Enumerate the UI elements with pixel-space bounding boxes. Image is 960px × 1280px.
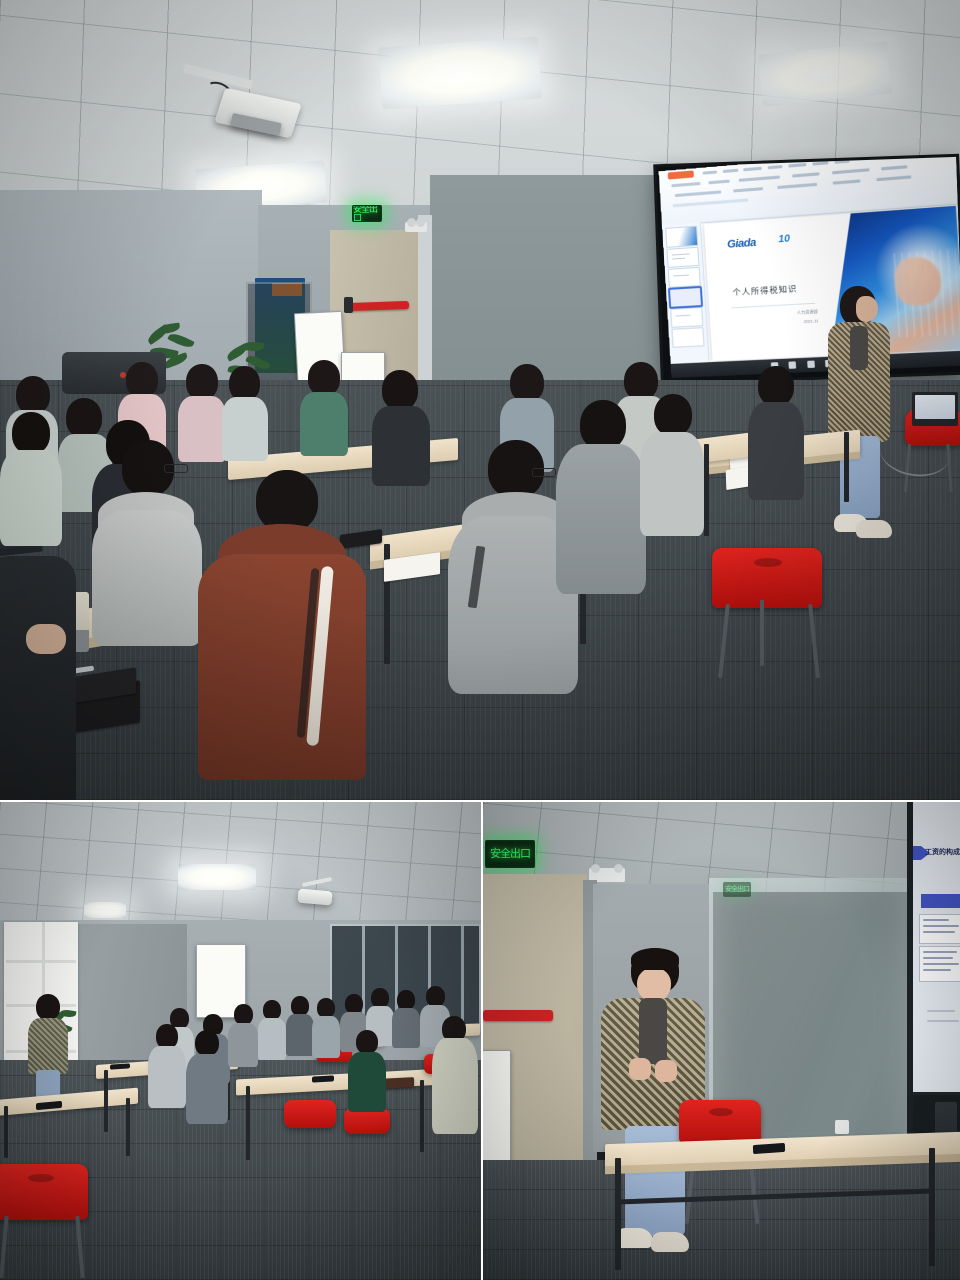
ppt-tool-row-c1[interactable]: [672, 199, 748, 208]
bookshelf-divider: [6, 960, 76, 963]
slide-body-line: [923, 963, 959, 965]
table-leg: [615, 1158, 621, 1270]
attendee-row2-c: [312, 998, 340, 1056]
attendee-head: [580, 400, 626, 450]
floor-carpet: [483, 1160, 960, 1280]
ppt-tab-tick-7[interactable]: [834, 160, 850, 164]
taskbar-icon-3[interactable]: [807, 361, 815, 369]
trainer-hand-right: [655, 1060, 677, 1082]
slide-body-line: [923, 969, 951, 971]
slide-body-line: [923, 951, 957, 953]
slide-thumbnail-4[interactable]: [668, 287, 701, 308]
exit-sign-label: 安全出口: [490, 849, 530, 860]
attendee-head: [371, 988, 389, 1008]
attendee-hand: [26, 624, 66, 654]
projector: [297, 889, 332, 906]
attendee-head: [263, 1000, 281, 1020]
trainer-shoe-right: [856, 520, 892, 538]
projection-screen-secondary: 工资的构成: [913, 802, 960, 1092]
slide-thumbnail-1[interactable]: [665, 226, 698, 248]
ppt-tab-tick-5[interactable]: [788, 163, 806, 168]
laptop-screen: [915, 395, 955, 419]
attendee-head: [229, 366, 260, 401]
ceiling-light-2: [84, 902, 126, 918]
slide-content-box-2: [919, 946, 960, 982]
trainer-hair-fringe: [631, 948, 679, 970]
attendee-head: [256, 470, 318, 532]
attendee-head: [510, 364, 544, 402]
table-leg: [929, 1148, 935, 1266]
trainer: [28, 994, 68, 1102]
collage-seam-vertical: [481, 800, 483, 1280]
ppt-tool-row-a1[interactable]: [671, 182, 700, 187]
attendee-head: [308, 360, 340, 396]
attendee-body: [372, 406, 430, 486]
attendee-mid-4-brown-hoodie: [196, 470, 366, 780]
attendee-mid-7: [640, 394, 704, 534]
trainer-shoe-right: [651, 1232, 689, 1252]
trainer-face: [856, 296, 878, 322]
attendee-body: [0, 556, 76, 800]
ceiling-light-1: [378, 36, 542, 109]
ppt-tab-tick-4[interactable]: [767, 165, 782, 169]
attendee-mid-3-gray-hoodie: [92, 440, 202, 640]
door-push-bar[interactable]: [483, 1010, 553, 1021]
ppt-slide-thumbnail-panel[interactable]: [661, 222, 709, 365]
exit-sign-reflection-label: 安全出口: [725, 886, 749, 893]
attendee-head: [654, 394, 692, 436]
attendee-glasses: [532, 468, 556, 477]
trainer-inner-top: [850, 326, 868, 370]
slide-divider: [731, 303, 815, 309]
collage-seam-horizontal: [0, 800, 960, 802]
chair-row-2[interactable]: [284, 1100, 336, 1128]
giada-logo: Giada: [726, 237, 755, 251]
attendee-row2-a: [258, 1000, 286, 1058]
attendee-right-standing: [748, 366, 804, 496]
trainer-hand-left: [629, 1058, 651, 1080]
attendee-head: [234, 1004, 253, 1025]
attendee-body: [392, 1008, 420, 1048]
slide-thumbnail-3[interactable]: [667, 267, 700, 288]
ppt-tab-tick-6[interactable]: [812, 162, 827, 166]
wall-socket: [835, 1120, 849, 1134]
plant-leaf: [167, 331, 194, 350]
chair-handle-hole: [709, 1108, 733, 1116]
attendee-body: [300, 392, 348, 456]
exit-sign: 安全出口: [485, 840, 535, 868]
empty-chair-right[interactable]: [712, 548, 822, 608]
attendee-back-7: [372, 370, 430, 480]
exit-sign-label: 安全出口: [353, 205, 381, 222]
attendee-body: [0, 450, 62, 546]
attendee-front-seated-left: [148, 1024, 186, 1106]
table-leg: [704, 444, 709, 536]
attendee-front-seated-mid: [186, 1030, 228, 1122]
attendee-head: [291, 996, 309, 1016]
slide-content-box-1: [919, 914, 960, 944]
ppt-tool-row-b2[interactable]: [732, 187, 762, 192]
slide-thumbnail-5[interactable]: [670, 307, 703, 328]
slide-title: 个人所得税知识: [732, 283, 797, 298]
attendee-body: [198, 554, 366, 780]
ppt-tool-row-a3[interactable]: [738, 176, 780, 182]
panel-wide-room-view: [0, 802, 481, 1280]
attendee-body: [556, 444, 646, 594]
ppt-tool-row-a2[interactable]: [708, 180, 729, 185]
attendee-body: [222, 397, 268, 461]
slide-heading-arrow: [913, 846, 921, 860]
thumbnail-line: [672, 275, 689, 277]
attendee-head: [317, 998, 335, 1018]
attendee-mid-1: [0, 412, 62, 542]
slide-body-line: [923, 925, 959, 927]
attendee-body: [186, 1054, 228, 1124]
trainer-face: [637, 968, 671, 1002]
attendee-head: [356, 1030, 378, 1054]
attendee-back-6: [300, 360, 348, 452]
slide-thumbnail-2[interactable]: [666, 247, 699, 268]
chair-leg: [760, 600, 764, 666]
table-leg: [420, 1080, 424, 1152]
trainer-inner-top: [639, 998, 667, 1064]
attendee-body: [432, 1038, 478, 1134]
ppt-tab-tick-1[interactable]: [702, 171, 717, 175]
attendee-body: [258, 1018, 286, 1060]
attendee-body: [312, 1016, 340, 1058]
ppt-tool-row-b4[interactable]: [832, 180, 860, 185]
flip-chart-board: [483, 1050, 511, 1174]
ppt-tab-tick-3[interactable]: [743, 167, 761, 172]
table-leg: [246, 1086, 250, 1160]
thumbnail-line: [671, 253, 689, 255]
exit-sign: 安全出口: [352, 205, 382, 222]
ceiling-light-1: [178, 864, 256, 890]
attendee-head: [382, 370, 418, 410]
attendee-row1-c: [228, 1004, 258, 1064]
slide-body-line: [923, 919, 949, 921]
attendee-head: [186, 364, 218, 400]
slide-footnote: [927, 1020, 959, 1022]
attendee-body: [92, 510, 202, 646]
attendee-head: [12, 412, 50, 454]
attendee-glasses: [164, 464, 188, 473]
thumbnail-line: [675, 315, 690, 317]
attendee-head: [345, 994, 363, 1014]
giada-anniversary-mark: 10: [778, 233, 790, 245]
photo-collage: 安全出口: [0, 0, 960, 1280]
ppt-tool-row-b5[interactable]: [875, 176, 910, 182]
attendee-body: [228, 1023, 258, 1067]
ppt-tool-row-a5[interactable]: [831, 169, 868, 175]
red-chair[interactable]: [679, 1100, 761, 1144]
ppt-tab-tick-2[interactable]: [722, 169, 737, 173]
slide-body-line: [923, 931, 955, 933]
ppt-tab-file[interactable]: [667, 171, 694, 180]
foreground-chair[interactable]: [0, 1164, 88, 1220]
door-lock: [344, 297, 353, 313]
attendee-body: [148, 1046, 186, 1108]
projection-screen: Giada 10 个人所得税知识 人力资源部 2021.11: [656, 157, 960, 382]
ppt-tool-row-a6[interactable]: [881, 166, 906, 171]
thumbnail-line: [671, 258, 685, 260]
attendee-row3-b: [392, 990, 420, 1046]
front-table-leg: [844, 432, 849, 502]
slide-body-line: [923, 957, 953, 959]
attendee-head: [426, 986, 445, 1007]
trainer-blazer: [28, 1018, 68, 1074]
attendee-back-5: [222, 366, 268, 458]
trainer: [826, 286, 892, 550]
slide-heading: 工资的构成: [925, 847, 960, 857]
attendee-head: [397, 990, 415, 1010]
phone-on-table[interactable]: [312, 1075, 334, 1082]
attendee-row2-b: [286, 996, 314, 1054]
attendee-head: [758, 366, 794, 406]
ppt-tool-row-a4[interactable]: [792, 173, 820, 178]
attendee-front-coat: [432, 1016, 478, 1132]
table-leg: [4, 1106, 8, 1158]
slide-date: 2021.11: [763, 319, 818, 327]
attendee-body: [286, 1014, 314, 1056]
slide-thumbnail-6[interactable]: [671, 327, 704, 348]
attendee-head: [195, 1030, 219, 1056]
chair-handle-hole: [754, 558, 782, 567]
panel-main-classroom-view: 安全出口: [0, 0, 960, 800]
ppt-tool-row-b1[interactable]: [674, 191, 721, 198]
table-leg: [126, 1098, 130, 1156]
attendee-body: [640, 432, 704, 536]
exit-sign-reflection: 安全出口: [723, 882, 751, 897]
ppt-tool-row-b3[interactable]: [777, 183, 817, 189]
plant-leaf: [157, 323, 180, 335]
attendee-foreground-left: [0, 556, 76, 800]
attendee-head: [16, 376, 50, 414]
attendee-body: [348, 1052, 386, 1112]
table-leg: [104, 1070, 108, 1132]
attendee-mid-6: [556, 400, 646, 590]
slide-footnote: [927, 1010, 955, 1012]
attendee-body: [748, 402, 804, 500]
slide-presenter: 人力资源部: [763, 309, 818, 318]
panel-trainer-closeup-view: 安全出口 安全出口 工资的构成: [483, 802, 960, 1280]
slide-band-label: [921, 894, 960, 908]
chair-handle-hole: [28, 1174, 54, 1182]
attendee-front-green: [348, 1030, 386, 1110]
attendee-head: [126, 362, 158, 398]
emergency-light: [405, 222, 427, 232]
powerpoint-window[interactable]: Giada 10 个人所得税知识 人力资源部 2021.11: [658, 157, 960, 378]
presenter-laptop[interactable]: [912, 392, 958, 426]
trainer-head: [36, 994, 60, 1020]
